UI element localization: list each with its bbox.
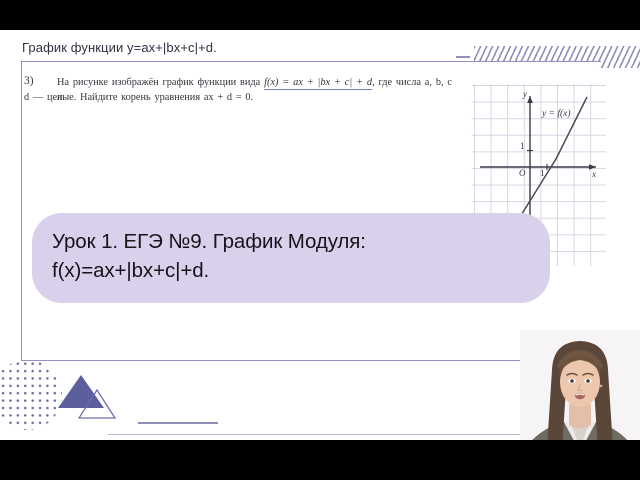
slide-heading: График функции y=ax+|bx+c|+d.	[22, 40, 217, 55]
problem-equation: ax + d = 0	[204, 92, 251, 103]
video-player-frame: График функции y=ax+|bx+c|+d. 3) На рису…	[0, 0, 640, 480]
outline-triangle-icon	[78, 389, 116, 419]
presenter-webcam	[520, 330, 640, 440]
problem-text-d: .	[251, 92, 254, 103]
dot-pattern-icon	[0, 360, 62, 430]
slide-canvas: График функции y=ax+|bx+c|+d. 3) На рису…	[0, 30, 640, 440]
title-card-line-2: f(x)=ax+|bx+c|+d.	[52, 256, 532, 285]
graph-unit-x-label: 1	[540, 168, 545, 178]
accent-rule-short	[138, 422, 218, 424]
problem-text-line-2: d — целые. Найдите корень уравнения ax +…	[24, 90, 424, 105]
problem-text-a: На рисунке изображён график функции вида	[57, 77, 264, 88]
title-card-line-1: Урок 1. ЕГЭ №9. График Модуля:	[52, 227, 532, 256]
graph-y-axis-label: y	[523, 89, 527, 99]
letterbox-top	[0, 0, 640, 30]
problem-formula-inline: f(x) = ax + |bx + c| + d	[264, 77, 372, 90]
letterbox-bottom	[0, 440, 640, 480]
graph-unit-y-label: 1	[520, 141, 525, 151]
problem-text-c: d — целые. Найдите корень уравнения	[24, 92, 204, 103]
problem-number: 3)	[24, 75, 34, 87]
hatch-dash-icon	[456, 56, 470, 58]
title-card: Урок 1. ЕГЭ №9. График Модуля: f(x)=ax+|…	[32, 213, 550, 303]
graph-origin-label: O	[519, 168, 526, 178]
graph-curve-label: y = f(x)	[542, 109, 571, 119]
graph-x-axis-label: x	[592, 169, 596, 179]
